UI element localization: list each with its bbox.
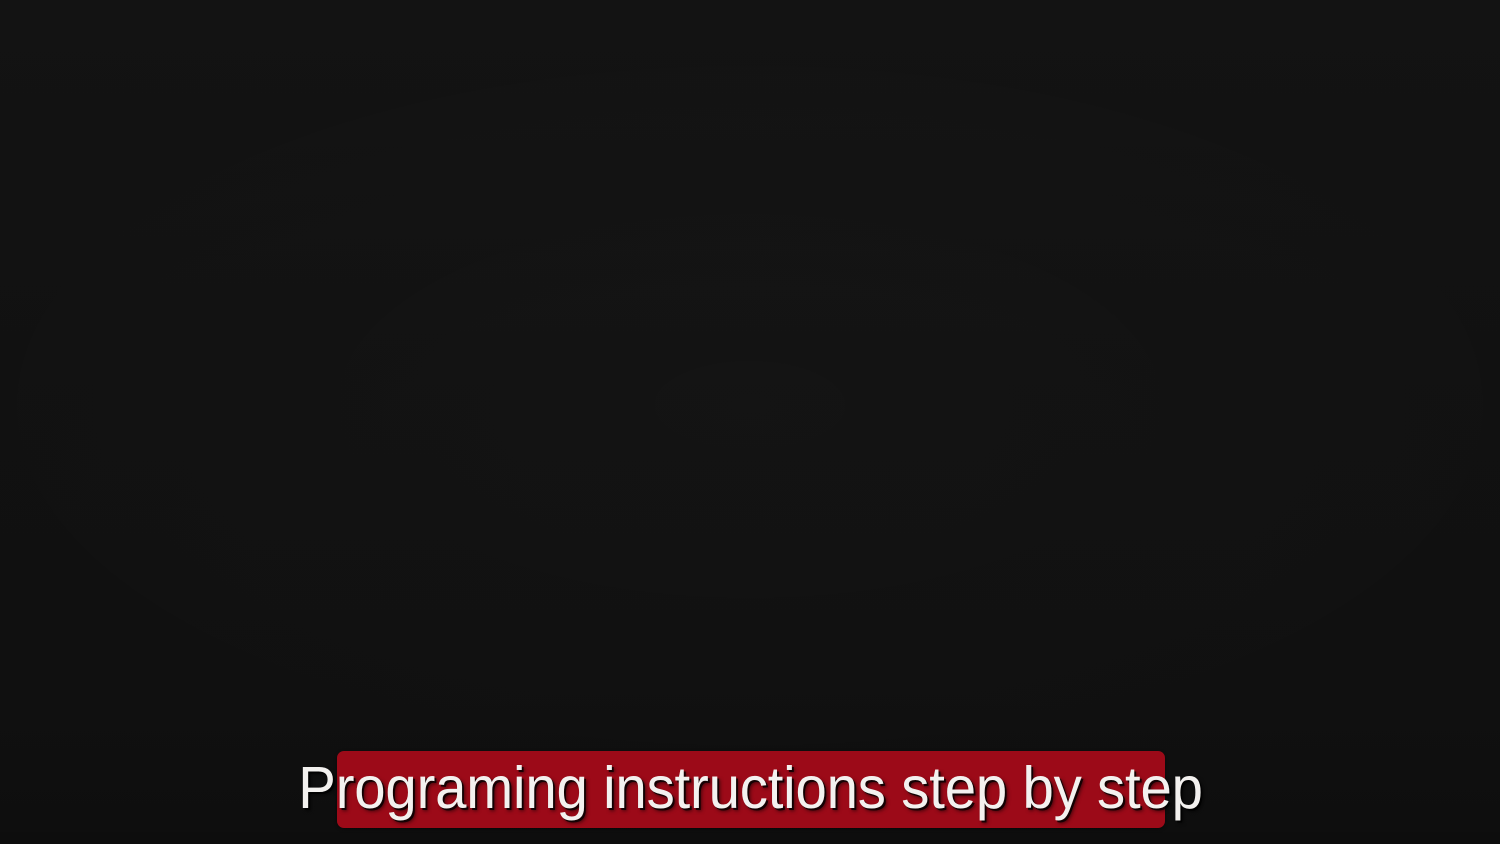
- frame-backdrop: [0, 0, 1500, 844]
- video-frame: Programing instructions step by step: [0, 0, 1500, 844]
- caption-banner: Programing instructions step by step: [337, 751, 1165, 828]
- frame-bottom-edge: [0, 832, 1500, 844]
- caption-text: Programing instructions step by step: [299, 759, 1203, 818]
